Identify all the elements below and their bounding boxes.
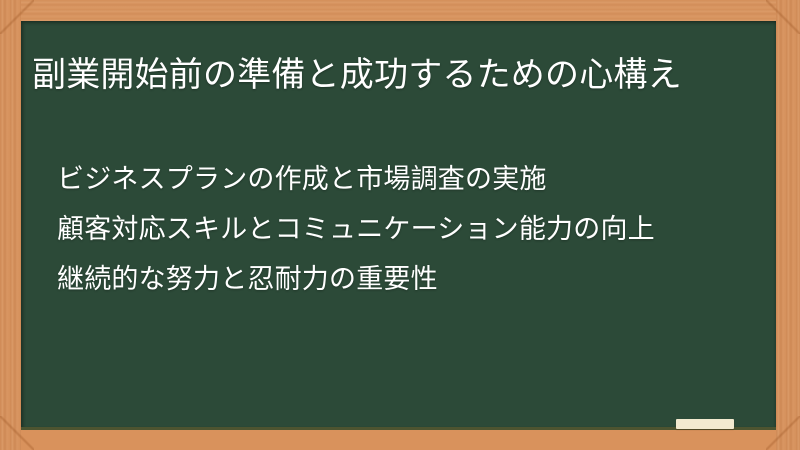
- chalkboard-surface: 副業開始前の準備と成功するための心構え ビジネスプランの作成と市場調査の実施 顧…: [21, 21, 776, 428]
- frame-rail-bottom: [0, 428, 800, 450]
- slide-title: 副業開始前の準備と成功するための心構え: [32, 52, 754, 99]
- board-ledge-seam: [21, 427, 776, 430]
- frame-stile-left: [0, 0, 21, 450]
- bullet-item-2: 顧客対応スキルとコミュニケーション能力の向上: [57, 205, 757, 255]
- frame-stile-right: [776, 0, 800, 450]
- bullet-item-1: ビジネスプランの作成と市場調査の実施: [57, 155, 757, 205]
- slide-bullet-list: ビジネスプランの作成と市場調査の実施 顧客対応スキルとコミュニケーション能力の向…: [57, 155, 757, 305]
- slide-canvas: 副業開始前の準備と成功するための心構え ビジネスプランの作成と市場調査の実施 顧…: [0, 0, 800, 450]
- chalk-stick-icon: [676, 419, 734, 429]
- bullet-item-3: 継続的な努力と忍耐力の重要性: [57, 255, 757, 305]
- frame-rail-top: [0, 0, 800, 21]
